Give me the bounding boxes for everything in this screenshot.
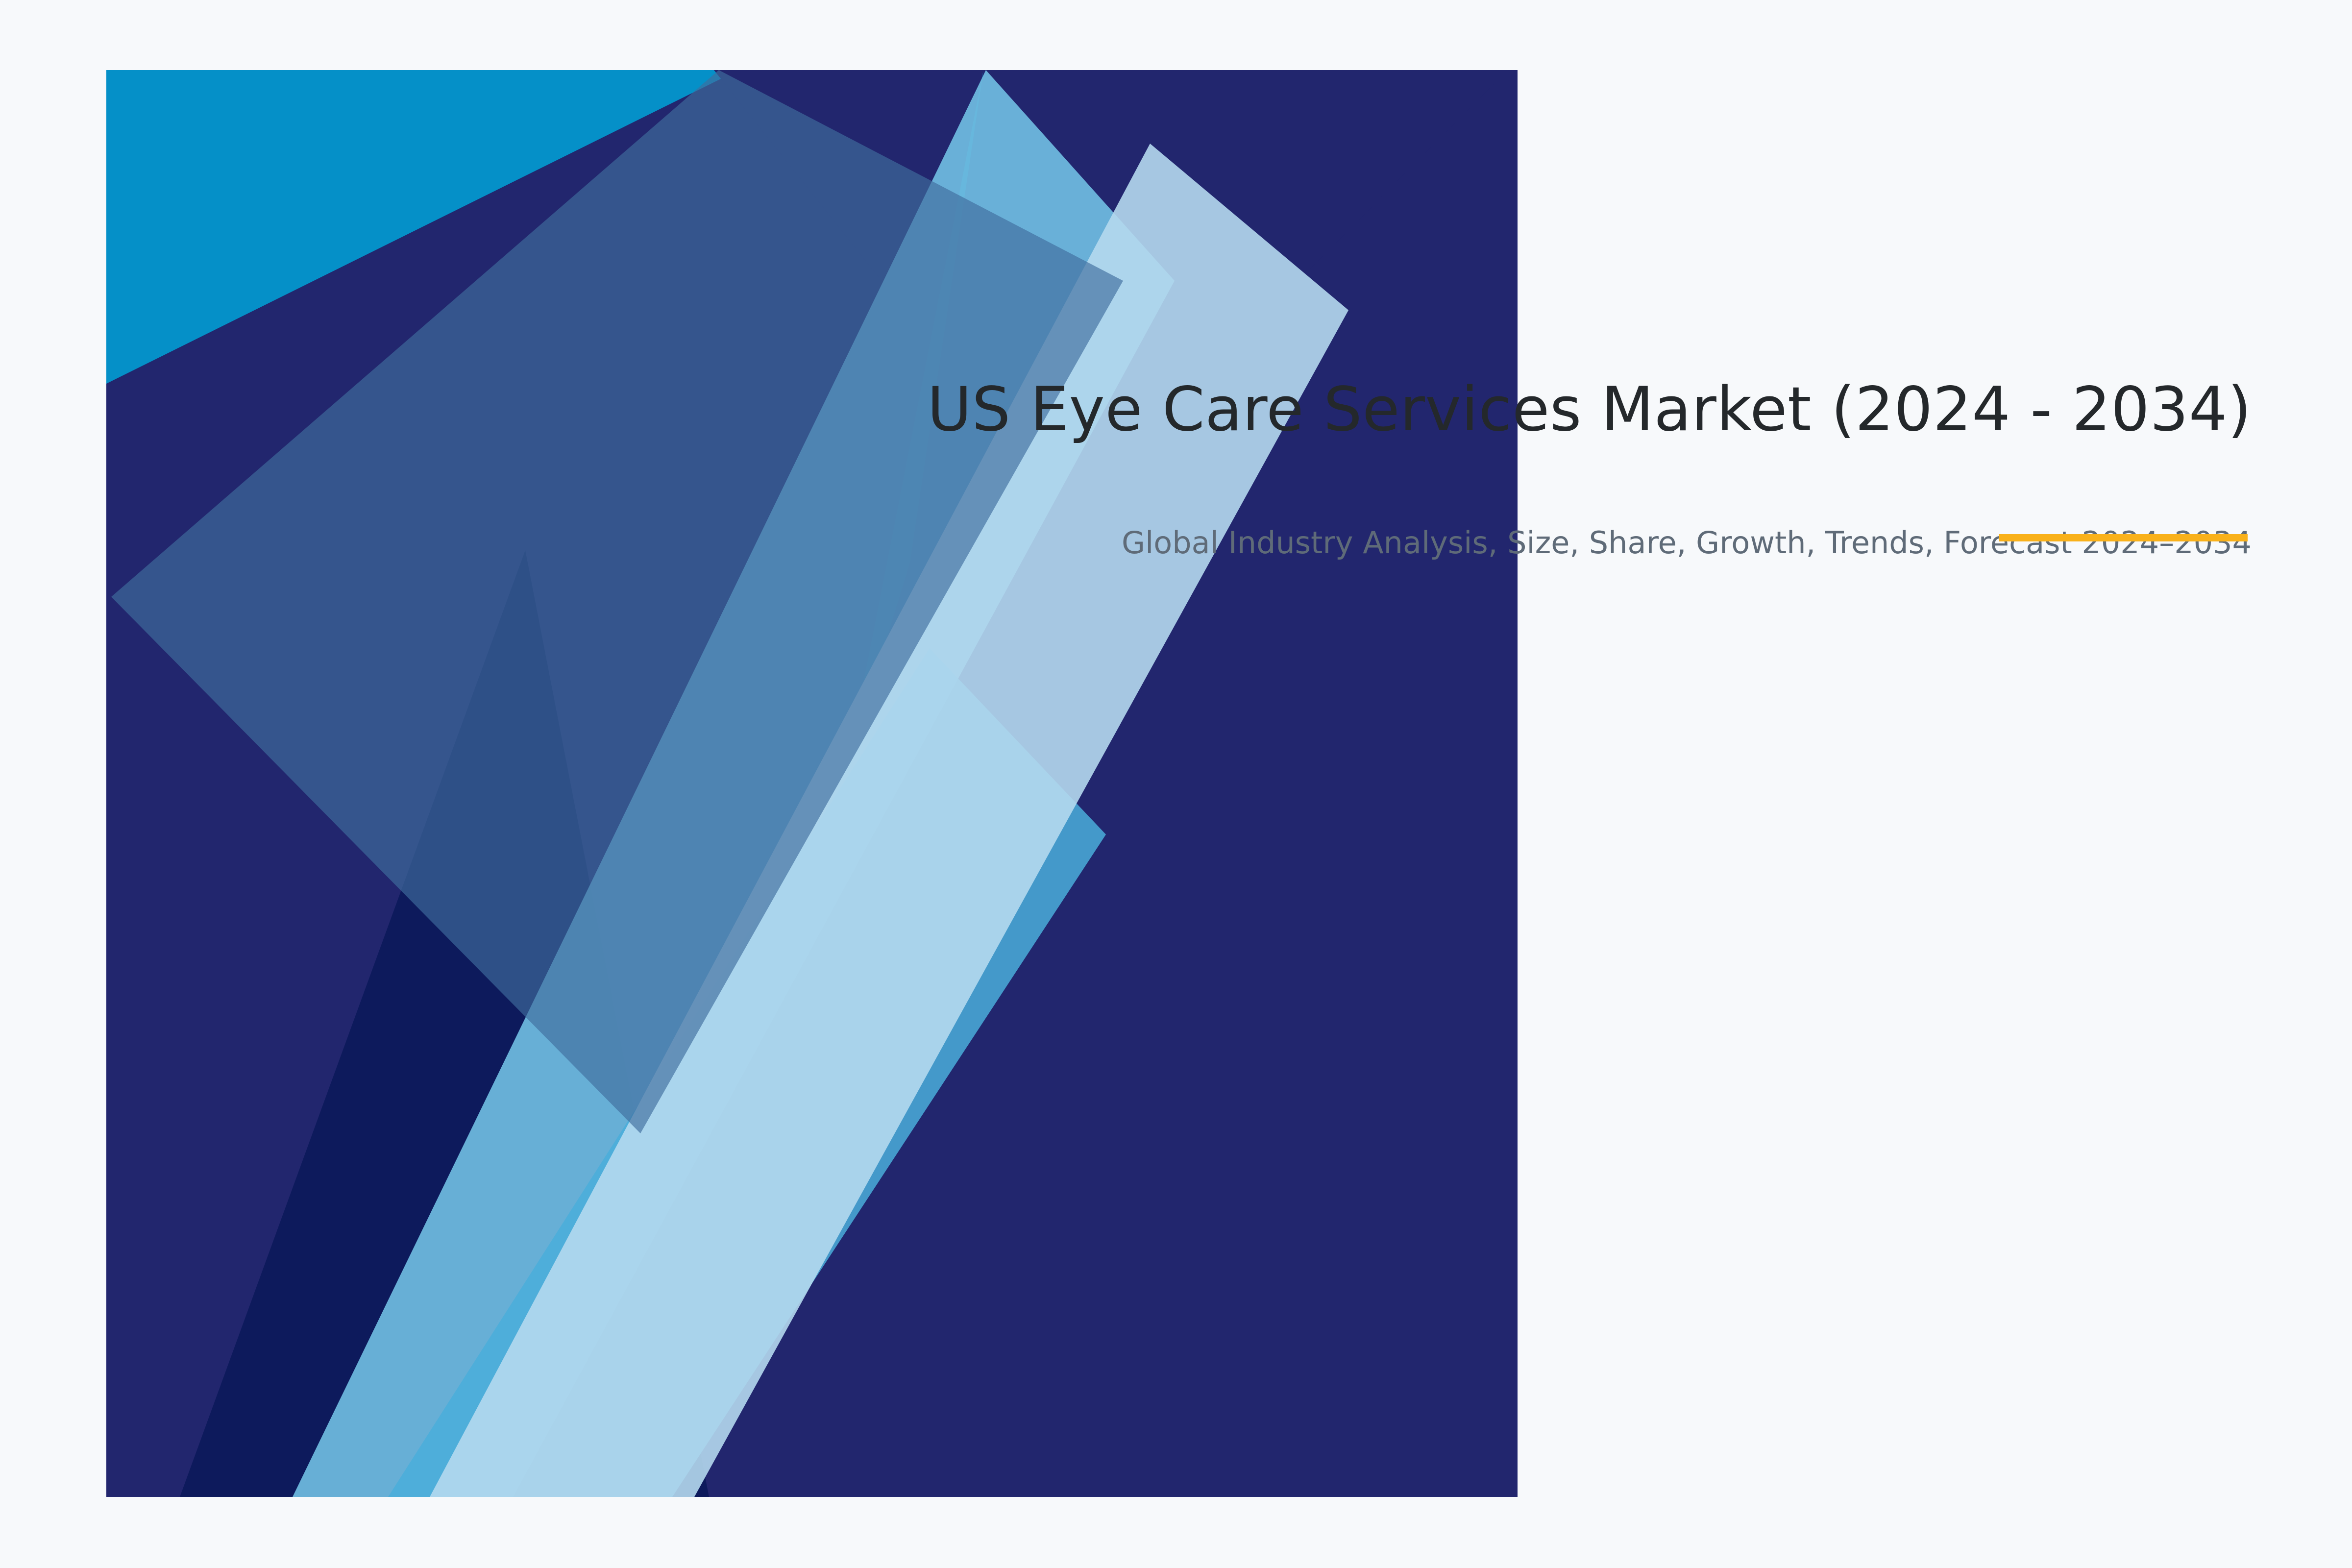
cover-artwork xyxy=(106,70,1518,1497)
slide-canvas: US Eye Care Services Market (2024 - 2034… xyxy=(0,0,2352,1568)
page-subtitle: Global Industry Analysis, Size, Share, G… xyxy=(735,521,2252,564)
abstract-polygon-graphic xyxy=(106,70,1518,1497)
cover-text-column: US Eye Care Services Market (2024 - 2034… xyxy=(735,372,2252,564)
title-wrapper: US Eye Care Services Market (2024 - 2034… xyxy=(735,372,2252,448)
title-underline-accent xyxy=(1999,534,2248,541)
page-title: US Eye Care Services Market (2024 - 2034… xyxy=(735,372,2252,448)
